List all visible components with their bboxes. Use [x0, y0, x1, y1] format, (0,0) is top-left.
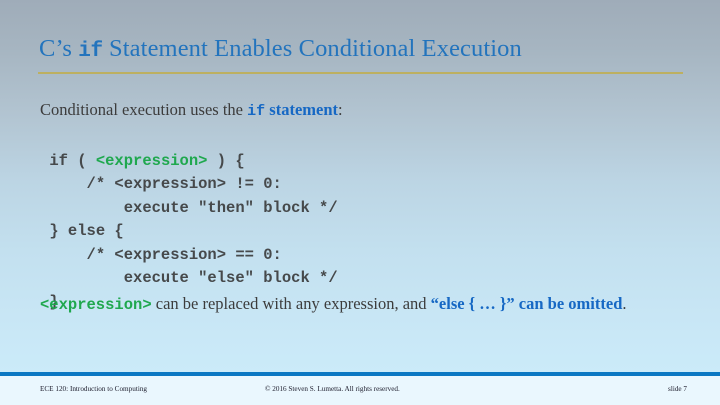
code-indent [40, 199, 124, 217]
code-text: execute "then" block */ [124, 199, 338, 217]
code-indent [40, 246, 87, 264]
code-indent [40, 175, 87, 193]
code-text: execute "else" block */ [124, 269, 338, 287]
code-text: /* <expression> == 0: [87, 246, 282, 264]
closing-period: . [622, 294, 626, 313]
code-text: } else { [49, 222, 123, 240]
page-title: C’s if Statement Enables Conditional Exe… [39, 34, 689, 67]
code-line: execute "else" block */ [40, 269, 338, 287]
title-divider [38, 72, 683, 74]
code-line: if ( <expression> ) { [40, 152, 245, 170]
closing-expression-token: <expression> [40, 296, 152, 314]
page-title-part1: C’s [39, 35, 78, 62]
code-text-post: ) { [207, 152, 244, 170]
code-text: if ( [49, 152, 96, 170]
footer-copyright: © 2016 Steven S. Lumetta. All rights res… [265, 384, 400, 394]
code-line: /* <expression> == 0: [40, 246, 282, 264]
code-line: execute "then" block */ [40, 199, 338, 217]
code-indent [40, 152, 49, 170]
intro-lead-text: Conditional execution uses the [40, 100, 247, 119]
footer-course: ECE 120: Introduction to Computing [40, 384, 147, 394]
footer-slide-number: slide 7 [668, 384, 687, 394]
intro-keyword-statement: statement [269, 100, 338, 119]
code-text: /* <expression> != 0: [87, 175, 282, 193]
intro-colon: : [338, 100, 343, 119]
code-indent [40, 269, 124, 287]
code-line: } else { [40, 222, 124, 240]
code-expression-token: <expression> [96, 152, 208, 170]
code-line: /* <expression> != 0: [40, 175, 282, 193]
code-indent [40, 222, 49, 240]
closing-paragraph: <expression> can be replaced with any ex… [40, 293, 680, 316]
page-title-part2: Statement Enables Conditional Execution [103, 35, 522, 62]
closing-mid-text: can be replaced with any expression, and [152, 294, 431, 313]
footer: ECE 120: Introduction to Computing © 201… [0, 376, 720, 405]
page-title-keyword-if: if [78, 40, 103, 63]
slide-canvas: C’s if Statement Enables Conditional Exe… [0, 0, 720, 405]
intro-keyword-if: if [247, 103, 265, 120]
intro-line: Conditional execution uses the if statem… [40, 99, 343, 122]
closing-emphasis: “else { … }” can be omitted [431, 294, 623, 313]
